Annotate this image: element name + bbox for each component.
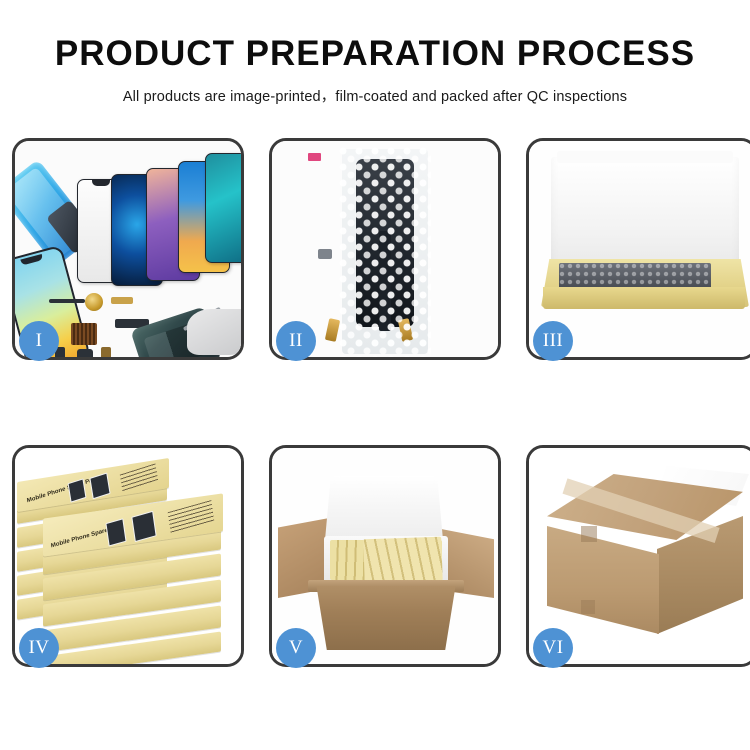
box-artwork-thumb [68,478,87,502]
carton-seam-lower-image [581,600,595,614]
carton-body-image [312,586,460,650]
step-panel-5: V [269,445,501,667]
gold-connector-part-image [111,297,133,304]
carton-seam-upper-image [581,526,597,542]
box-spec-lines [120,463,158,492]
page-header: PRODUCT PREPARATION PROCESS All products… [0,0,750,106]
step-panel-2: II [269,138,501,360]
box-artwork-thumb [131,511,156,542]
packed-boxes-image [363,537,442,584]
carton-front-face-image [547,526,659,634]
process-steps-grid: I II III [12,138,738,667]
lcd-connector-image [318,249,332,259]
lcd-flex-cable-image [379,231,391,331]
phone-notch-shape [20,254,43,265]
step-badge-1: I [19,321,59,361]
step-badge-2: II [276,321,316,361]
gold-contact-left-image [325,318,340,342]
step-badge-3: III [533,321,573,361]
step-panel-1: I [12,138,244,360]
step-badge-6: VI [533,628,573,668]
page-subtitle: All products are image-printed，film-coat… [0,85,750,106]
step-badge-4: IV [19,628,59,668]
speaker-part-image [77,349,93,357]
product-preparation-page: PRODUCT PREPARATION PROCESS All products… [0,0,750,750]
pink-label-image [308,153,321,161]
flex-cable-part-image [49,299,85,303]
screen-notch-shape [92,180,110,186]
hand-image [187,309,241,355]
page-title: PRODUCT PREPARATION PROCESS [0,36,750,71]
chip-grid-part-image [71,323,97,345]
box-spec-lines [168,500,215,534]
vibrator-part-image [101,347,111,357]
step-panel-6: VI [526,445,750,667]
box-artwork-thumb [89,472,110,499]
kraft-tray-front-image [543,287,745,309]
gold-coil-part-image [85,293,103,311]
box-artwork-thumb [105,518,126,546]
screen-panel-teal-image [205,153,241,263]
step-badge-5: V [276,628,316,668]
foam-lid-open-image [325,475,443,542]
step-panel-3: III [526,138,750,360]
step-panel-4: Mobile Phone Spare Parts Mobile Phone Sp… [12,445,244,667]
